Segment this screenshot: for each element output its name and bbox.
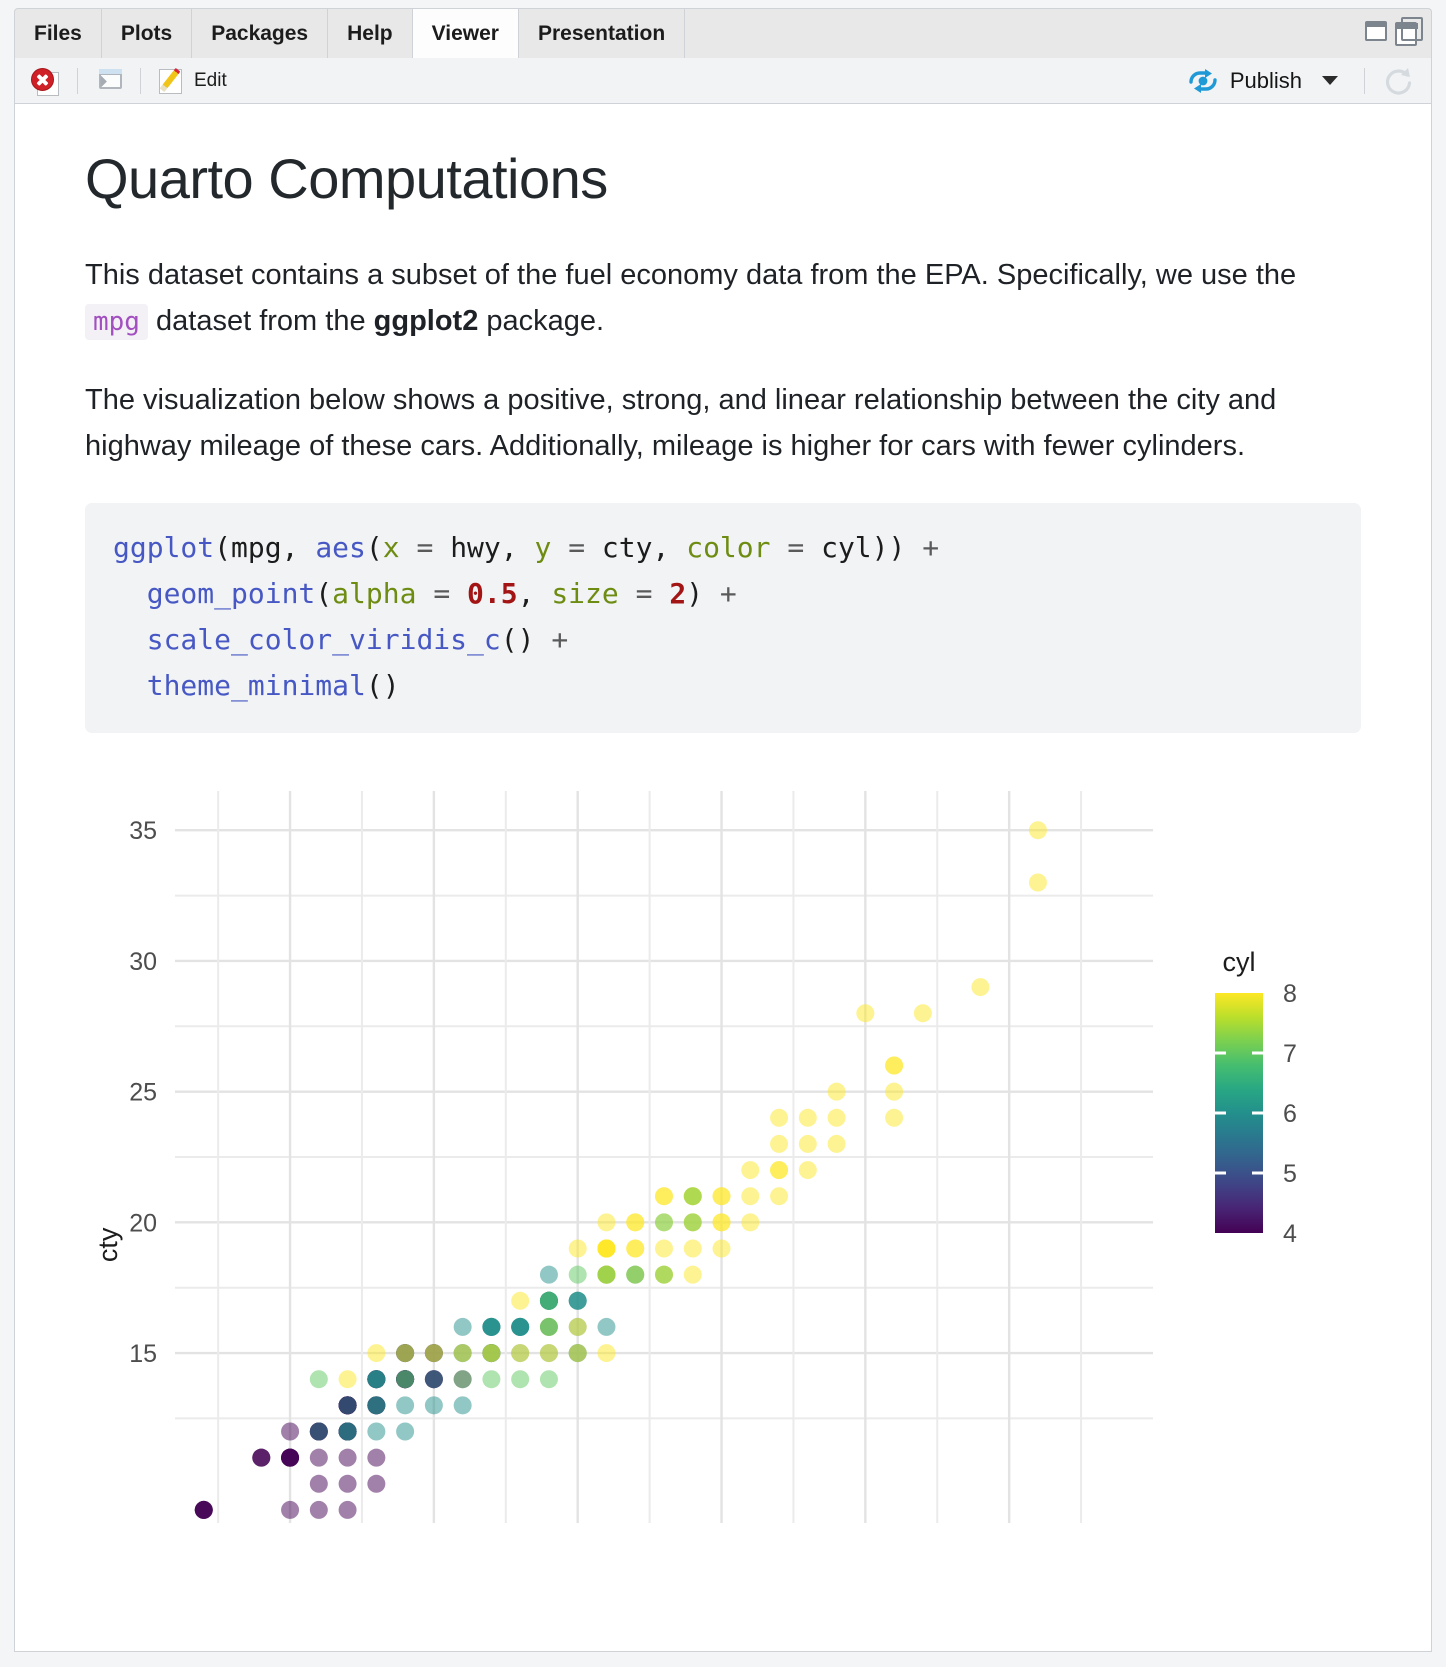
pane-tabstrip: Files Plots Packages Help Viewer Present… [14,8,1432,58]
data-point [569,1291,587,1309]
data-point [885,1056,903,1074]
chevron-down-icon[interactable] [1322,76,1338,85]
data-point [770,1187,788,1205]
data-point [597,1318,615,1336]
plot-points [195,821,1047,1519]
data-point [569,1344,587,1362]
data-point [713,1213,731,1231]
data-point [396,1396,414,1414]
data-point [569,1318,587,1336]
plot-axis-labels: 1520253035cty [93,817,157,1368]
data-point [770,1161,788,1179]
data-point [713,1187,731,1205]
data-point [540,1265,558,1283]
data-point [454,1396,472,1414]
data-point [799,1161,817,1179]
data-point [885,1082,903,1100]
data-point [540,1318,558,1336]
minimize-icon[interactable] [1365,27,1387,41]
data-point [367,1370,385,1388]
data-point [540,1370,558,1388]
data-point [1029,821,1047,839]
legend-tick-label: 4 [1283,1220,1297,1248]
window-controls [1365,9,1431,58]
viewer-document[interactable]: Quarto Computations This dataset contain… [14,104,1432,1652]
show-in-new-window-button[interactable] [88,64,130,98]
refresh-button[interactable] [1375,61,1421,101]
publish-label: Publish [1230,68,1302,94]
code-block-line-4: theme_minimal() [113,709,114,710]
data-point [454,1344,472,1362]
data-point [597,1239,615,1257]
data-point [281,1448,299,1466]
paragraph-intro-strong: ggplot2 [374,305,479,337]
data-point [770,1135,788,1153]
data-point [396,1370,414,1388]
edit-icon [157,66,187,96]
data-point [339,1370,357,1388]
data-point [540,1344,558,1362]
data-point [569,1265,587,1283]
data-point [655,1213,673,1231]
y-tick-label: 25 [129,1078,157,1106]
page-title: Quarto Computations [85,146,1361,211]
data-point [741,1213,759,1231]
data-point [339,1422,357,1440]
paragraph-intro: This dataset contains a subset of the fu… [85,253,1300,344]
data-point [713,1239,731,1257]
legend-tick-label: 6 [1283,1100,1297,1128]
tab-presentation[interactable]: Presentation [519,9,685,58]
y-axis-title: cty [93,1227,123,1262]
data-point [597,1213,615,1231]
toolbar-separator-1 [77,68,78,94]
publish-button[interactable]: Publish [1182,65,1308,97]
data-point [626,1239,644,1257]
data-point [454,1318,472,1336]
legend-tick-label: 5 [1283,1160,1297,1188]
data-point [799,1108,817,1126]
y-tick-label: 20 [129,1209,157,1237]
legend-title: cyl [1223,947,1256,977]
data-point [339,1501,357,1519]
data-point [597,1265,615,1283]
data-point [310,1370,328,1388]
y-tick-label: 35 [129,817,157,845]
data-point [684,1265,702,1283]
edit-button[interactable]: Edit [151,63,233,99]
code-block-content: ggplot(mpg, aes(x = hwy, y = cty, color … [113,525,1333,709]
data-point [856,1004,874,1022]
data-point [425,1370,443,1388]
data-point [626,1265,644,1283]
data-point [569,1239,587,1257]
data-point [310,1501,328,1519]
tab-plots[interactable]: Plots [102,9,192,58]
data-point [396,1344,414,1362]
data-point [195,1501,213,1519]
code-block-line-1: ggplot(mpg, aes(x = hwy, y = cty, color … [113,709,114,710]
maximize-icon[interactable] [1395,22,1417,46]
data-point [770,1108,788,1126]
data-point [828,1135,846,1153]
data-point [482,1318,500,1336]
data-point [310,1474,328,1492]
data-point [367,1344,385,1362]
data-point [828,1108,846,1126]
data-point [367,1396,385,1414]
tab-viewer[interactable]: Viewer [413,9,519,58]
data-point [1029,873,1047,891]
inline-code-mpg: mpg [85,304,148,340]
paragraph-intro-text-3: package. [478,305,604,337]
data-point [885,1108,903,1126]
legend-tick-label: 8 [1283,980,1297,1008]
toolbar-separator-2 [140,68,141,94]
refresh-icon [1381,64,1415,98]
data-point [655,1187,673,1205]
data-point [425,1396,443,1414]
paragraph-intro-text-2: dataset from the [148,305,374,337]
scatter-plot: 1520253035ctycyl87654 [83,769,1361,1529]
viewer-pane: Files Plots Packages Help Viewer Present… [0,0,1446,1667]
data-point [339,1474,357,1492]
tabstrip-filler [685,9,1365,58]
data-point [310,1422,328,1440]
toolbar-separator-3 [1364,68,1365,94]
data-point [367,1448,385,1466]
tab-packages[interactable]: Packages [192,9,328,58]
code-block-line-3: scale_color_viridis_c() + [113,709,114,710]
data-point [828,1082,846,1100]
data-point [339,1448,357,1466]
data-point [511,1318,529,1336]
show-in-new-window-icon [94,67,124,95]
stop-clear-icon [31,66,61,96]
y-tick-label: 30 [129,948,157,976]
y-tick-label: 15 [129,1340,157,1368]
code-block-line-2: geom_point(alpha = 0.5, size = 2) + [113,709,114,710]
data-point [511,1370,529,1388]
plot-gridlines [175,791,1153,1523]
data-point [655,1239,673,1257]
paragraph-description: The visualization below shows a positive… [85,378,1300,469]
data-point [511,1291,529,1309]
toolbar-right-group: Publish [1182,61,1421,101]
data-point [482,1370,500,1388]
data-point [454,1370,472,1388]
data-point [540,1291,558,1309]
data-point [511,1344,529,1362]
data-point [367,1422,385,1440]
scatter-plot-svg: 1520253035ctycyl87654 [83,769,1361,1529]
code-block[interactable]: ggplot(mpg, aes(x = hwy, y = cty, color … [85,503,1361,733]
data-point [741,1161,759,1179]
data-point [425,1344,443,1362]
tab-help[interactable]: Help [328,9,413,58]
data-point [684,1187,702,1205]
data-point [655,1265,673,1283]
data-point [971,978,989,996]
legend-tick-label: 7 [1283,1040,1297,1068]
plot-legend: cyl87654 [1215,947,1297,1248]
data-point [482,1344,500,1362]
data-point [281,1501,299,1519]
data-point [252,1448,270,1466]
viewer-toolbar: Edit Publish [14,58,1432,104]
data-point [281,1422,299,1440]
data-point [684,1213,702,1231]
edit-button-label: Edit [194,70,227,92]
tab-files[interactable]: Files [15,9,102,58]
data-point [396,1422,414,1440]
data-point [597,1344,615,1362]
data-point [339,1396,357,1414]
data-point [799,1135,817,1153]
paragraph-intro-text-1: This dataset contains a subset of the fu… [85,259,1296,291]
data-point [684,1239,702,1257]
data-point [367,1474,385,1492]
data-point [741,1187,759,1205]
data-point [626,1213,644,1231]
data-point [914,1004,932,1022]
clear-viewer-button[interactable] [25,63,67,99]
publish-icon [1188,68,1218,94]
data-point [310,1448,328,1466]
